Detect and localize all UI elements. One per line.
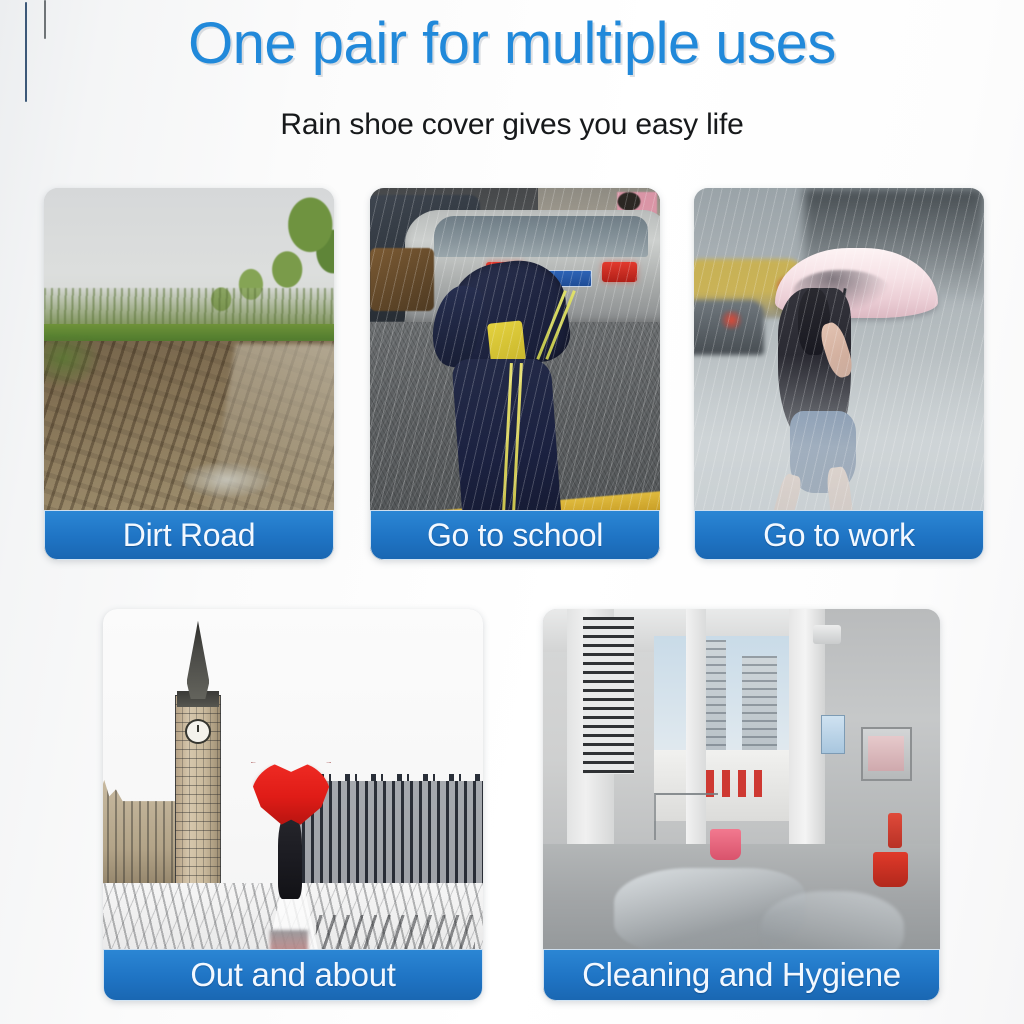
use-case-tile-go-to-school[interactable]: Go to school — [370, 188, 660, 560]
photo-go-to-work — [694, 188, 984, 560]
page-subtitle: Rain shoe cover gives you easy life — [0, 108, 1024, 141]
use-case-tile-out-and-about[interactable]: Out and about — [103, 609, 483, 1001]
pink-bucket — [710, 829, 742, 860]
photo-out-and-about — [103, 609, 483, 1001]
wall-lamp — [813, 625, 841, 645]
photo-go-to-school — [370, 188, 660, 560]
umbrella-ribs — [251, 762, 331, 825]
tile-caption-dirt-road: Dirt Road — [44, 510, 334, 560]
tile-caption-cleaning-hygiene: Cleaning and Hygiene — [543, 949, 940, 1001]
stair-railing — [654, 793, 718, 840]
brown-vehicle-part — [370, 248, 434, 311]
tile-caption-out-and-about: Out and about — [103, 949, 483, 1001]
roadside-weeds — [44, 337, 102, 389]
photo-cleaning-hygiene — [543, 609, 940, 1001]
brake-light-near — [720, 311, 743, 330]
walking-person — [278, 813, 303, 899]
blue-notice-sign — [821, 715, 845, 754]
use-case-tile-dirt-road[interactable]: Dirt Road — [44, 188, 334, 560]
use-case-tile-cleaning-hygiene[interactable]: Cleaning and Hygiene — [543, 609, 940, 1001]
louver-screen — [583, 617, 635, 774]
red-bottle — [888, 813, 902, 848]
photo-dirt-road — [44, 188, 334, 560]
taillight-right — [602, 262, 637, 281]
red-bucket — [873, 852, 909, 887]
tile-caption-go-to-school: Go to school — [370, 510, 660, 560]
product-infographic: One pair for multiple uses Rain shoe cov… — [0, 0, 1024, 1024]
use-case-tile-go-to-work[interactable]: Go to work — [694, 188, 984, 560]
wall-cabinet — [861, 727, 913, 782]
car-rear-window — [434, 216, 649, 257]
page-title: One pair for multiple uses — [0, 14, 1024, 75]
yellow-bag — [487, 320, 526, 364]
tile-caption-go-to-work: Go to work — [694, 510, 984, 560]
puddle — [183, 463, 270, 496]
